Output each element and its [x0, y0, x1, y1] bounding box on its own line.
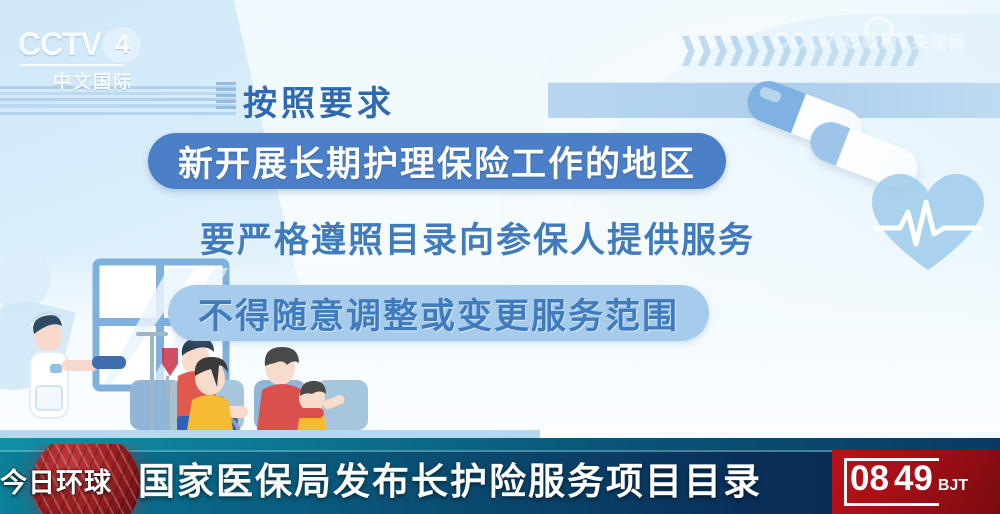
slide-line-text-light: 不得随意调整或变更服务范围	[168, 285, 709, 341]
slide-line: 要严格遵照目录向参保人提供服务	[0, 208, 1000, 266]
broadcast-frame: cctv.com央视网	[0, 0, 1000, 514]
site-watermark: cctv.com央视网	[772, 22, 966, 56]
logo-channel-number: 4	[115, 29, 129, 60]
news-headline: 国家医保局发布长护险服务项目目录	[138, 451, 762, 505]
cctv-channel-logo: CCTV 4 中文国际	[18, 26, 168, 92]
slide-line-text-plain: 要严格遵照目录向参保人提供服务	[168, 209, 785, 265]
logo-wordmark: CCTV 4	[18, 26, 168, 63]
clock-minutes: 49	[894, 459, 933, 499]
logo-cctv-text: CCTV	[18, 26, 101, 63]
clock-hours: 08	[850, 459, 889, 499]
slide-line-text-highlighted: 新开展长期护理保险工作的地区	[148, 133, 726, 189]
logo-channel-number-badge: 4	[103, 27, 141, 63]
watermark-site: cctv.com	[772, 22, 908, 55]
clock-time: 08 49 BJT	[850, 459, 968, 499]
slide-bullet-list: 新开展长期护理保险工作的地区 要严格遵照目录向参保人提供服务 不得随意调整或变更…	[0, 132, 1000, 360]
logo-subtitle: 中文国际	[18, 68, 168, 94]
slide-line: 新开展长期护理保险工作的地区	[0, 132, 1000, 190]
slide-line: 不得随意调整或变更服务范围	[0, 284, 1000, 342]
clock-widget: 08 49 BJT	[832, 450, 1000, 514]
slide-kicker: 按照要求	[243, 76, 395, 125]
clock-timezone: BJT	[938, 477, 968, 495]
logo-divider	[20, 64, 124, 66]
news-lower-third: 今日环球 国家医保局发布长护险服务项目目录 08 49 BJT	[0, 450, 1000, 514]
kicker-tick-marks	[216, 82, 236, 112]
watermark-site-cn: 央视网	[912, 33, 966, 52]
